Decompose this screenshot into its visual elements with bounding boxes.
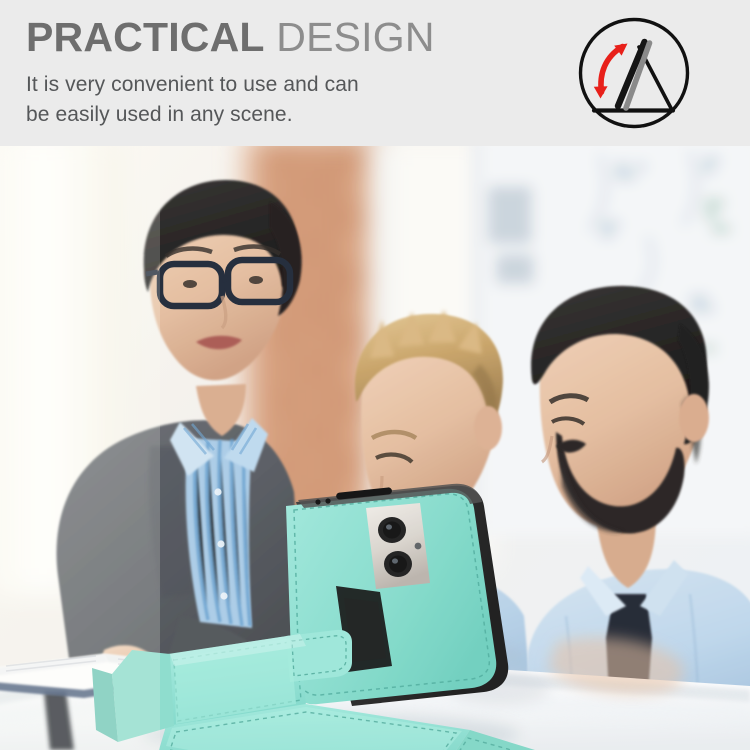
adjustable-kickstand-icon	[577, 16, 691, 130]
product-lifestyle-photo	[0, 146, 750, 750]
title-secondary	[265, 14, 277, 60]
title-emphasis: PRACTICAL	[26, 14, 265, 60]
subtitle-line-2: be easily used in any scene.	[26, 100, 526, 130]
photo-illustration	[0, 146, 750, 750]
title-rest: DESIGN	[276, 14, 434, 60]
product-feature-poster: PRACTICAL DESIGN It is very convenient t…	[0, 0, 750, 750]
subtitle-block: It is very convenient to use and can be …	[26, 70, 526, 130]
header-banner: PRACTICAL DESIGN It is very convenient t…	[0, 0, 750, 146]
header-text-block: PRACTICAL DESIGN It is very convenient t…	[26, 17, 526, 130]
subtitle-line-1: It is very convenient to use and can	[26, 70, 526, 100]
page-title: PRACTICAL DESIGN	[26, 17, 526, 58]
